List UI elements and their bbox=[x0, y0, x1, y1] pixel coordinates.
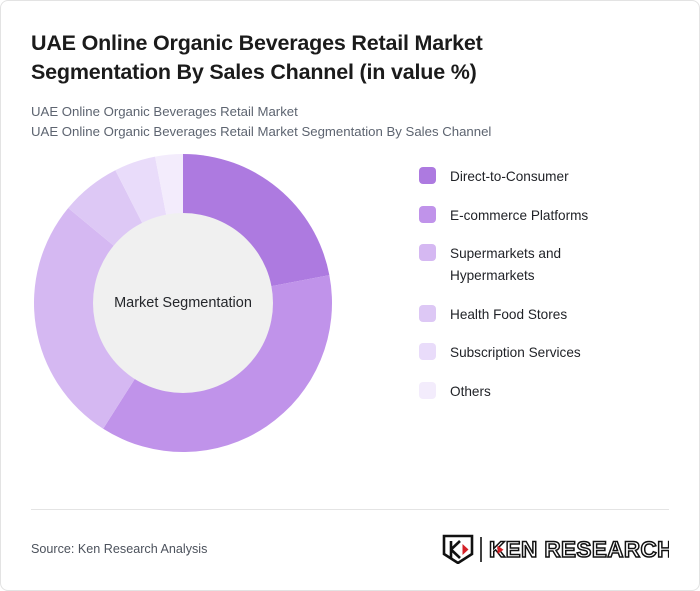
legend-item[interactable]: Others bbox=[419, 381, 669, 403]
legend-swatch-icon bbox=[419, 244, 436, 261]
legend-item-label: Supermarkets and Hypermarkets bbox=[450, 243, 625, 287]
legend-item[interactable]: Supermarkets and Hypermarkets bbox=[419, 243, 669, 287]
card-header: UAE Online Organic Beverages Retail Mark… bbox=[1, 1, 699, 142]
logo-shield-mark bbox=[444, 536, 472, 563]
legend-swatch-icon bbox=[419, 167, 436, 184]
logo-wordmark: KEN RESEARCH bbox=[489, 537, 669, 562]
subtitle-secondary: UAE Online Organic Beverages Retail Mark… bbox=[31, 122, 669, 142]
legend-item[interactable]: Subscription Services bbox=[419, 342, 669, 364]
page-title: UAE Online Organic Beverages Retail Mark… bbox=[31, 29, 591, 86]
ken-research-logo: KEN RESEARCH bbox=[441, 534, 669, 564]
legend-item[interactable]: Health Food Stores bbox=[419, 304, 669, 326]
donut-chart: Market Segmentation bbox=[34, 154, 332, 452]
legend-item-label: E-commerce Platforms bbox=[450, 205, 588, 227]
legend-item[interactable]: E-commerce Platforms bbox=[419, 205, 669, 227]
legend-swatch-icon bbox=[419, 305, 436, 322]
footer-divider bbox=[31, 509, 669, 510]
legend-item-label: Subscription Services bbox=[450, 342, 581, 364]
svg-text:KEN RESEARCH: KEN RESEARCH bbox=[489, 537, 669, 562]
legend-swatch-icon bbox=[419, 382, 436, 399]
legend-item-label: Others bbox=[450, 381, 491, 403]
subtitle-primary: UAE Online Organic Beverages Retail Mark… bbox=[31, 102, 669, 122]
card-footer: Source: Ken Research Analysis KEN RESEAR… bbox=[31, 529, 669, 569]
ken-research-logo-svg: KEN RESEARCH bbox=[441, 534, 669, 564]
chart-card: UAE Online Organic Beverages Retail Mark… bbox=[0, 0, 700, 591]
legend-swatch-icon bbox=[419, 206, 436, 223]
source-note: Source: Ken Research Analysis bbox=[31, 542, 207, 556]
donut-chart-svg bbox=[34, 154, 332, 452]
chart-legend: Direct-to-ConsumerE-commerce PlatformsSu… bbox=[419, 166, 669, 419]
legend-item[interactable]: Direct-to-Consumer bbox=[419, 166, 669, 188]
subtitle-group: UAE Online Organic Beverages Retail Mark… bbox=[31, 102, 669, 142]
legend-item-label: Direct-to-Consumer bbox=[450, 166, 569, 188]
chart-area: Market Segmentation Direct-to-ConsumerE-… bbox=[1, 154, 699, 474]
legend-item-label: Health Food Stores bbox=[450, 304, 567, 326]
donut-hole bbox=[93, 213, 273, 393]
legend-swatch-icon bbox=[419, 343, 436, 360]
